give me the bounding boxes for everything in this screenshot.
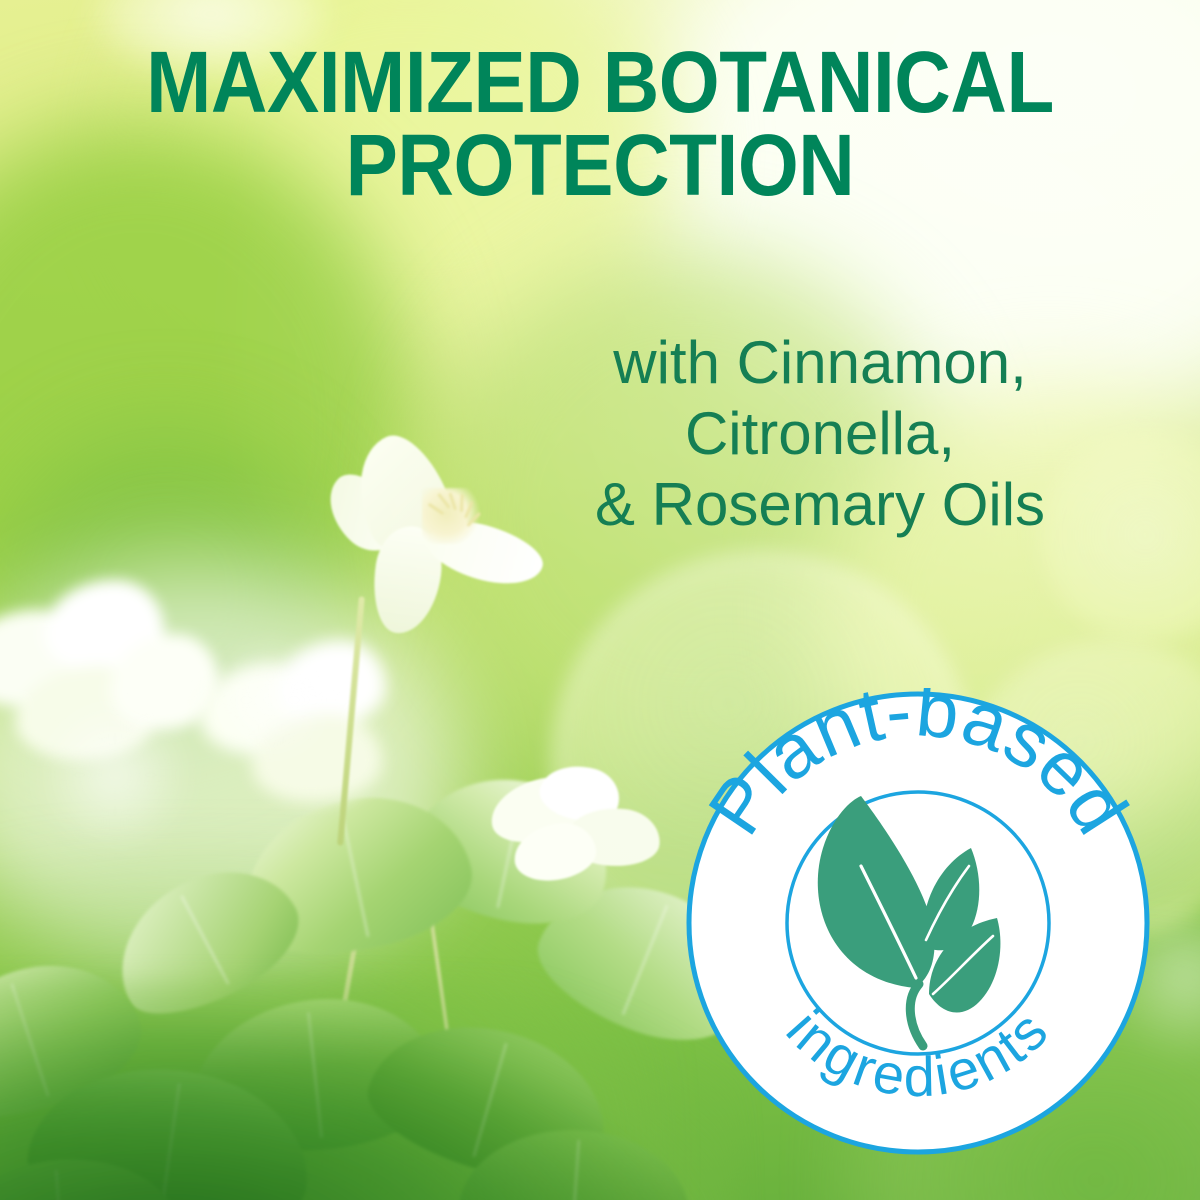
subtitle-line-1: with Cinnamon, [520,328,1120,399]
headline-line-2: PROTECTION [60,125,1140,208]
advertisement-banner: MAXIMIZED BOTANICAL PROTECTION with Cinn… [0,0,1200,1200]
subtitle: with Cinnamon, Citronella, & Rosemary Oi… [520,328,1120,540]
headline: MAXIMIZED BOTANICAL PROTECTION [60,42,1140,207]
subtitle-line-2: Citronella, [520,399,1120,470]
subtitle-line-3: & Rosemary Oils [520,470,1120,541]
plant-based-ingredients-badge: Plant-based ingredients [683,688,1153,1158]
